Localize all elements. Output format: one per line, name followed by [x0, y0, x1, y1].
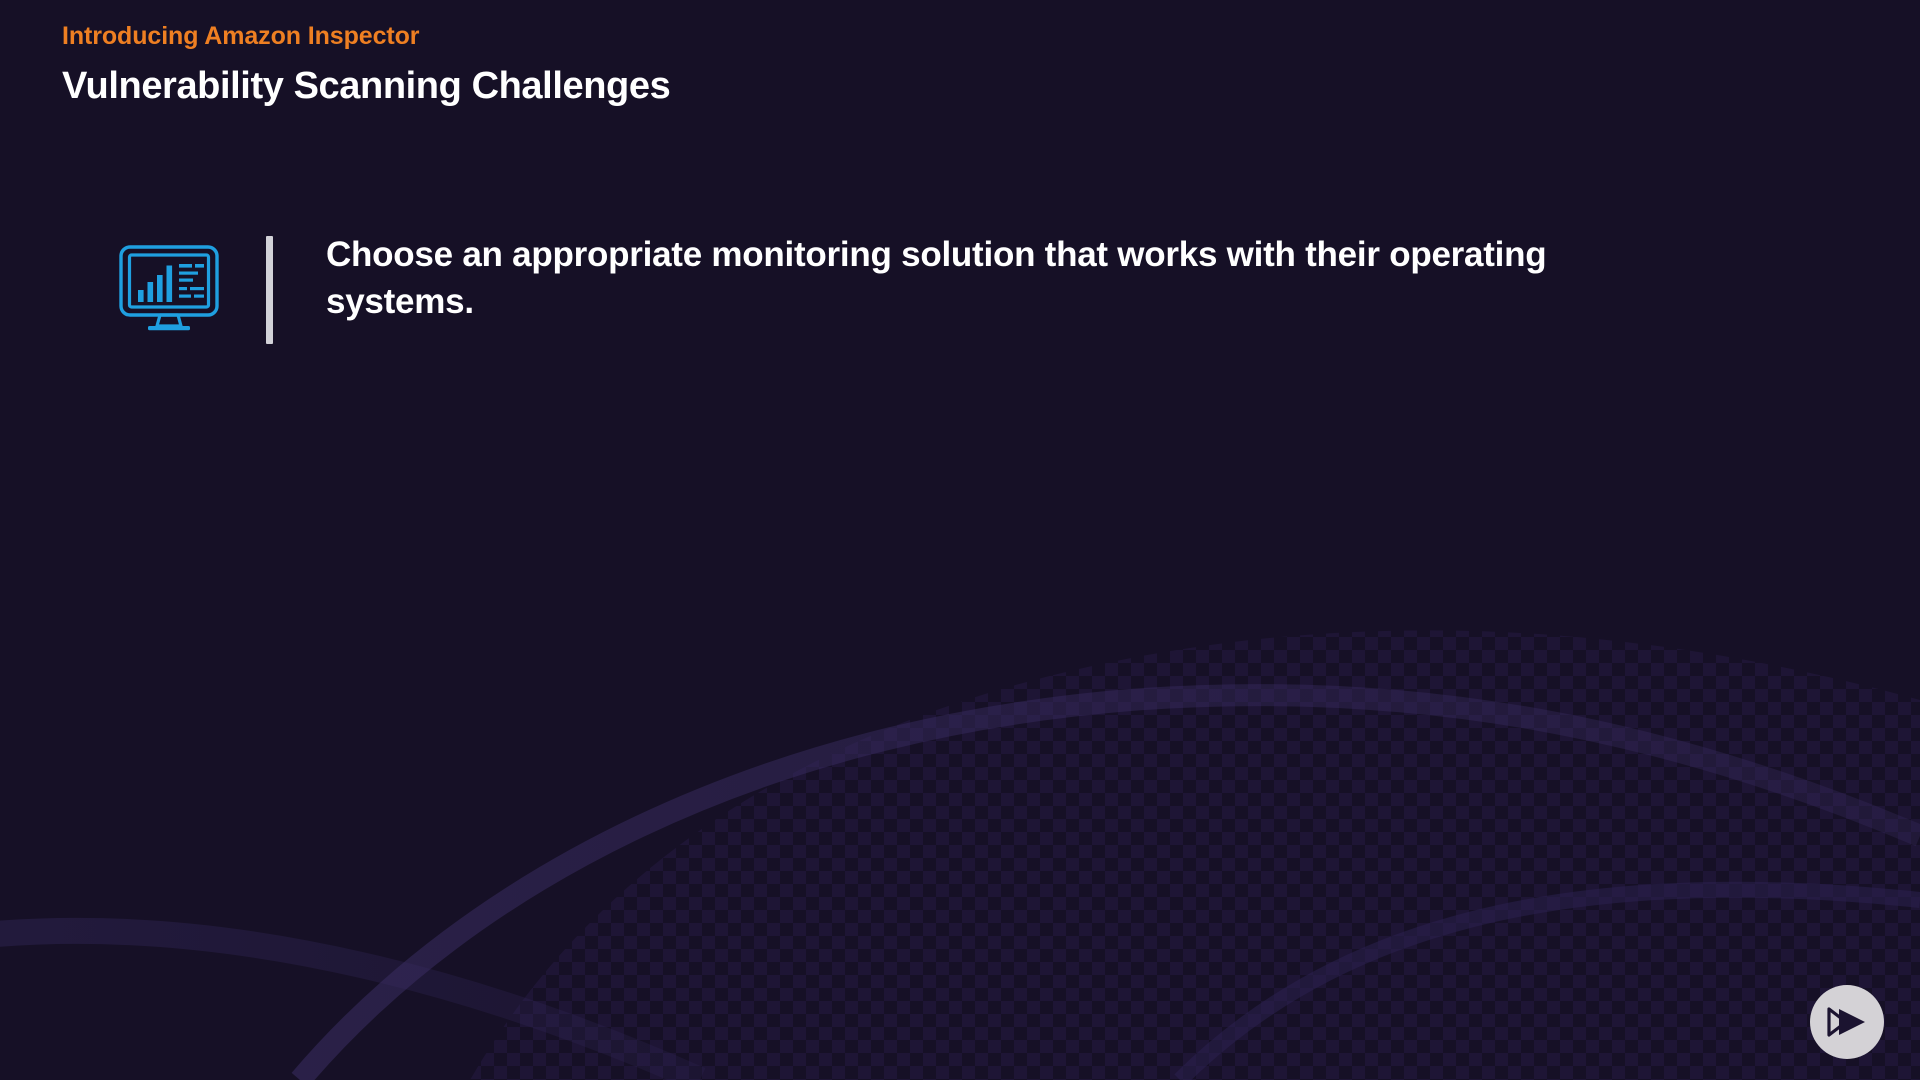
monitor-dashboard-glyph [118, 244, 220, 336]
background-arc-secondary [1180, 890, 1920, 1080]
bullet-divider [266, 236, 273, 344]
background-decoration [0, 0, 1920, 1080]
slide: Introducing Amazon Inspector Vulnerabili… [0, 0, 1920, 1080]
eyebrow-label: Introducing Amazon Inspector [62, 20, 1562, 52]
page-title: Vulnerability Scanning Challenges [62, 62, 1562, 111]
brand-badge[interactable] [1810, 985, 1884, 1059]
bullet-text: Choose an appropriate monitoring solutio… [326, 232, 1646, 326]
background-pattern-svg [0, 0, 1920, 1080]
bullet-item: Choose an appropriate monitoring solutio… [118, 232, 1646, 344]
background-arc-left [0, 931, 700, 1080]
double-play-arrow-icon [1826, 1003, 1868, 1041]
dot-field [0, 600, 1920, 1080]
monitor-dashboard-icon [118, 232, 220, 324]
background-arc-main [300, 695, 1920, 1080]
header: Introducing Amazon Inspector Vulnerabili… [62, 20, 1562, 111]
